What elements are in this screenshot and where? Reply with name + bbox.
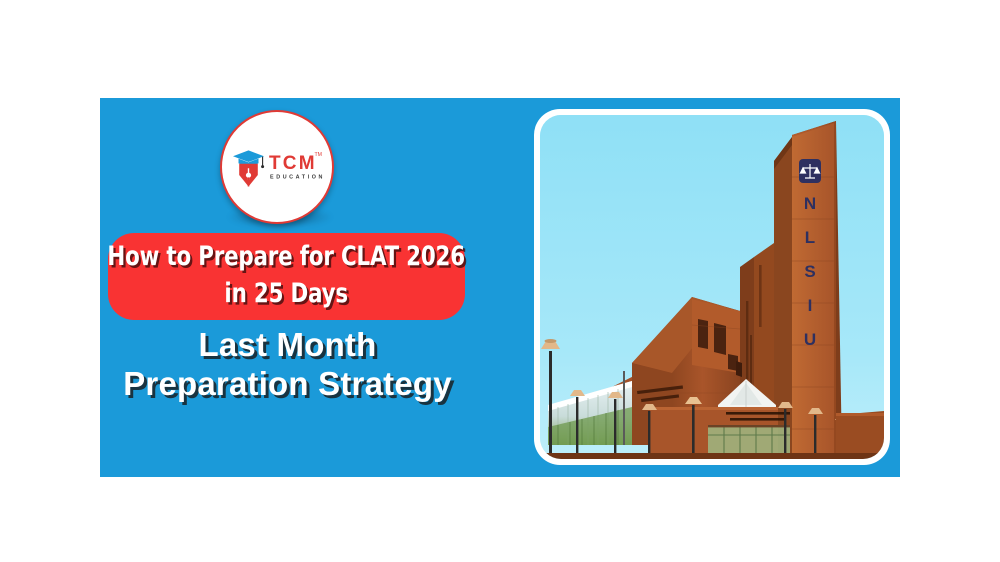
poster-canvas: TCM TM EDUCATION How to Prepare for CLAT… <box>0 0 1000 562</box>
brand-logo: TCM TM EDUCATION <box>220 110 340 230</box>
pen-nib-icon <box>239 164 258 187</box>
subheadline-line-2: Preparation Strategy <box>100 365 475 404</box>
svg-text:N: N <box>804 194 816 213</box>
svg-text:U: U <box>804 330 816 349</box>
svg-text:I: I <box>808 296 813 315</box>
subheadline: Last Month Preparation Strategy <box>100 326 475 404</box>
headline-pill: How to Prepare for CLAT 2026 in 25 Days <box>108 233 465 320</box>
svg-text:L: L <box>805 228 815 247</box>
nlsiu-building-illustration: N L S I U <box>540 115 884 459</box>
logo-badge-circle: TCM TM EDUCATION <box>220 110 334 224</box>
logo-contents: TCM TM EDUCATION <box>222 112 332 222</box>
left-content-column: TCM TM EDUCATION How to Prepare for CLAT… <box>100 98 520 477</box>
subheadline-line-1: Last Month <box>100 326 475 365</box>
scales-of-justice-emblem <box>799 159 821 183</box>
campus-photo: N L S I U <box>540 115 884 459</box>
photo-frame: N L S I U <box>534 109 890 465</box>
banner-panel: TCM TM EDUCATION How to Prepare for CLAT… <box>100 98 900 477</box>
headline-line-2: in 25 Days <box>225 276 349 312</box>
svg-text:EDUCATION: EDUCATION <box>270 175 325 181</box>
tcm-wordmark: TCM TM EDUCATION <box>269 152 325 181</box>
svg-text:TM: TM <box>315 152 323 158</box>
headline-line-1: How to Prepare for CLAT 2026 <box>108 239 466 275</box>
svg-text:TCM: TCM <box>269 153 317 174</box>
tcm-education-mark: TCM TM EDUCATION <box>229 144 325 190</box>
svg-text:S: S <box>804 262 815 281</box>
